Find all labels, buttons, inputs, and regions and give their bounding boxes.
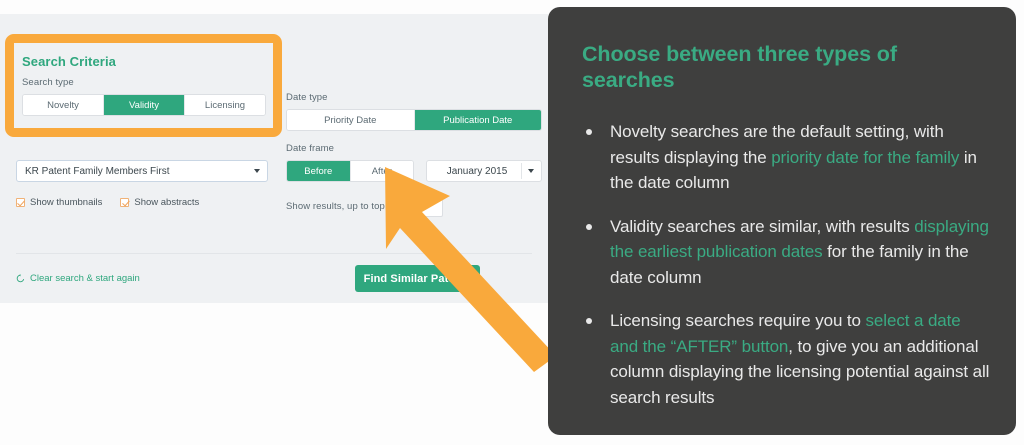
search-type-option-novelty[interactable]: Novelty [23,95,104,115]
search-type-label: Search type [22,77,266,89]
highlighted-phrase: priority date for the family [771,148,959,167]
callout-bullet-list: Novelty searches are the default setting… [574,119,990,410]
bullet-icon [586,224,592,230]
chevron-down-icon [528,169,534,173]
results-limit-label: Show results, up to top [286,201,385,213]
screenshot-root: Search Criteria Search type Novelty Vali… [0,0,1024,445]
find-similar-patents-button[interactable]: Find Similar Patents [355,265,480,292]
callout-bullet-text-1: Validity searches are similar, with resu… [610,217,989,287]
results-limit-group: Show results, up to top 250 [286,197,443,217]
date-frame-group: Date frame Before After January 2015 [286,143,542,182]
bullet-icon [586,318,592,324]
checkmark-icon [120,198,129,207]
patent-family-select-value: KR Patent Family Members First [25,166,169,177]
callout-card: Choose between three types of searches N… [548,7,1016,435]
refresh-icon [16,274,25,283]
callout-bullet-text-2: Licensing searches require you to select… [610,311,989,407]
display-options-group: Show thumbnails Show abstracts [16,197,199,208]
patent-family-select[interactable]: KR Patent Family Members First [16,160,268,182]
search-type-option-licensing[interactable]: Licensing [185,95,265,115]
bullet-icon [586,129,592,135]
callout-bullet-novelty: Novelty searches are the default setting… [574,119,990,196]
plain-phrase: Validity searches are similar, with resu… [610,217,914,236]
checkbox-show-thumbnails[interactable]: Show thumbnails [16,197,102,208]
date-type-option-publication-date[interactable]: Publication Date [415,110,542,130]
date-type-label: Date type [286,92,542,104]
search-criteria-group: Search Criteria Search type Novelty Vali… [22,54,266,116]
patent-family-select-wrapper: KR Patent Family Members First [16,160,268,182]
callout-bullet-licensing: Licensing searches require you to select… [574,308,990,410]
checkbox-show-abstracts[interactable]: Show abstracts [120,197,199,208]
search-criteria-title: Search Criteria [22,54,266,69]
date-frame-label: Date frame [286,143,542,155]
callout-bullet-validity: Validity searches are similar, with resu… [574,214,990,291]
form-divider [16,253,532,254]
date-type-group: Date type Priority Date Publication Date [286,92,542,131]
clear-search-link[interactable]: Clear search & start again [16,273,140,284]
plain-phrase: Licensing searches require you to [610,311,866,330]
checkbox-show-thumbnails-label: Show thumbnails [30,197,102,208]
chevron-down-icon [254,169,260,173]
clear-search-link-label: Clear search & start again [30,273,140,284]
month-select-value: January 2015 [447,166,508,177]
results-limit-value: 250 [396,202,413,213]
search-type-option-validity[interactable]: Validity [104,95,185,115]
month-select[interactable]: January 2015 [426,160,542,182]
callout-title: Choose between three types of searches [574,41,990,93]
search-form-panel: Search Criteria Search type Novelty Vali… [0,14,548,303]
callout-bullet-text-0: Novelty searches are the default setting… [610,122,977,192]
checkbox-show-abstracts-label: Show abstracts [134,197,199,208]
date-frame-option-before[interactable]: Before [287,161,351,181]
results-limit-input[interactable]: 250 [391,197,443,217]
select-separator [521,163,522,179]
search-type-segmented-control[interactable]: Novelty Validity Licensing [22,94,266,116]
find-similar-patents-button-label: Find Similar Patents [364,273,472,285]
checkmark-icon [16,198,25,207]
date-frame-segmented-control[interactable]: Before After [286,160,414,182]
date-type-segmented-control[interactable]: Priority Date Publication Date [286,109,542,131]
date-type-option-priority-date[interactable]: Priority Date [287,110,415,130]
date-frame-option-after[interactable]: After [351,161,414,181]
